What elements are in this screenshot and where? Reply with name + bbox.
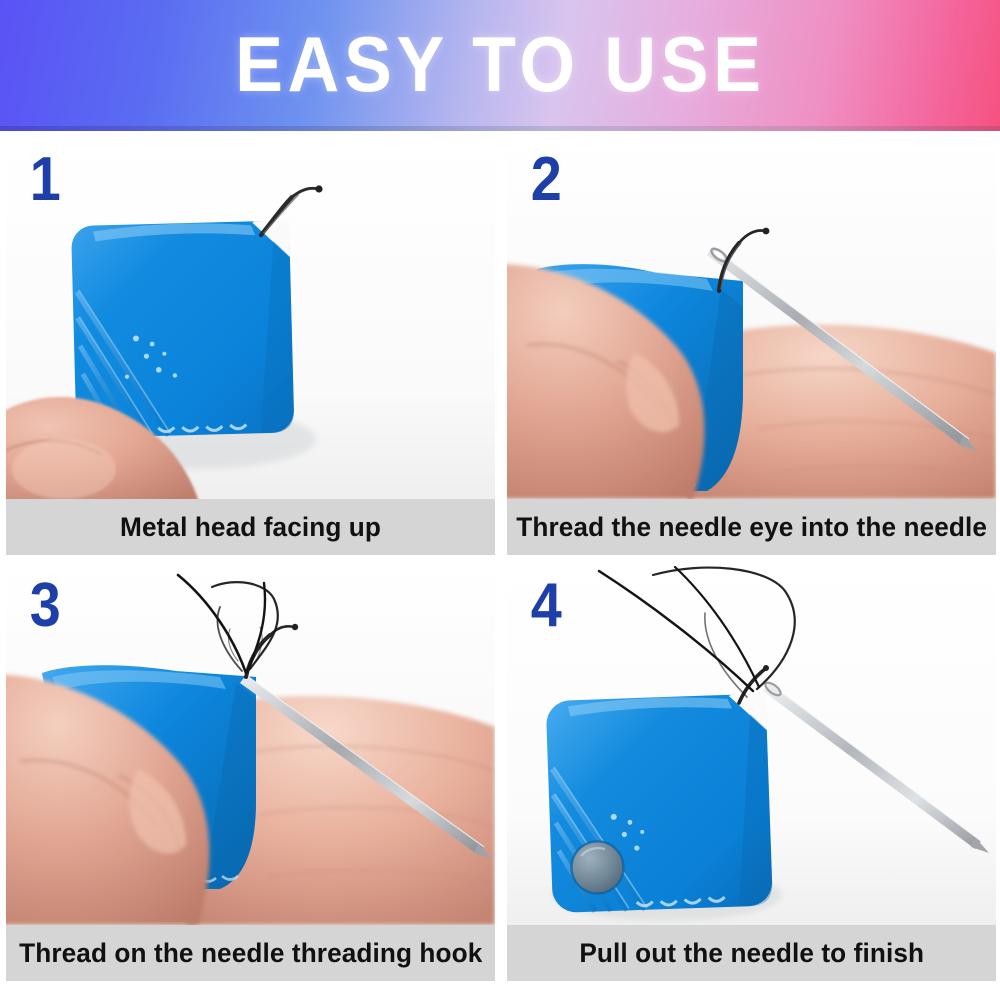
- step-photo-4: 4: [507, 565, 996, 925]
- header-banner: EASY TO USE: [0, 0, 1000, 131]
- page-title: EASY TO USE: [235, 25, 765, 103]
- step-number-4: 4: [531, 575, 562, 637]
- scene-hook-through-needle-eye: [507, 139, 996, 499]
- infographic-page: EASY TO USE: [0, 0, 1000, 997]
- step-photo-3: 3: [6, 565, 495, 925]
- step-photo-1: 1: [6, 139, 495, 499]
- step-number-2: 2: [531, 149, 562, 211]
- step-caption-text-1: Metal head facing up: [120, 512, 381, 543]
- step-caption-bar-3: Thread on the needle threading hook: [6, 925, 495, 981]
- step-panel-3: 3 Thread on the needle threading hook: [6, 565, 495, 981]
- scene-needle-pulled-out-finished: [507, 565, 996, 925]
- step-caption-text-4: Pull out the needle to finish: [579, 938, 924, 969]
- scene-threader-metal-head-up: [6, 139, 495, 499]
- step-photo-2: 2: [507, 139, 996, 499]
- steps-grid: 1 Metal head facing up: [0, 131, 1000, 997]
- step-caption-bar-4: Pull out the needle to finish: [507, 925, 996, 981]
- step-caption-text-2: Thread the needle eye into the needle: [516, 512, 987, 543]
- step-panel-2: 2 Thread the needle eye into the needle: [507, 139, 996, 555]
- step-number-3: 3: [30, 575, 61, 637]
- step-caption-text-3: Thread on the needle threading hook: [19, 938, 482, 969]
- step-caption-bar-1: Metal head facing up: [6, 499, 495, 555]
- step-panel-4: 4 Pull out the needle to finish: [507, 565, 996, 981]
- step-number-1: 1: [30, 149, 61, 211]
- step-panel-1: 1 Metal head facing up: [6, 139, 495, 555]
- scene-thread-on-hook: [6, 565, 495, 925]
- step-caption-bar-2: Thread the needle eye into the needle: [507, 499, 996, 555]
